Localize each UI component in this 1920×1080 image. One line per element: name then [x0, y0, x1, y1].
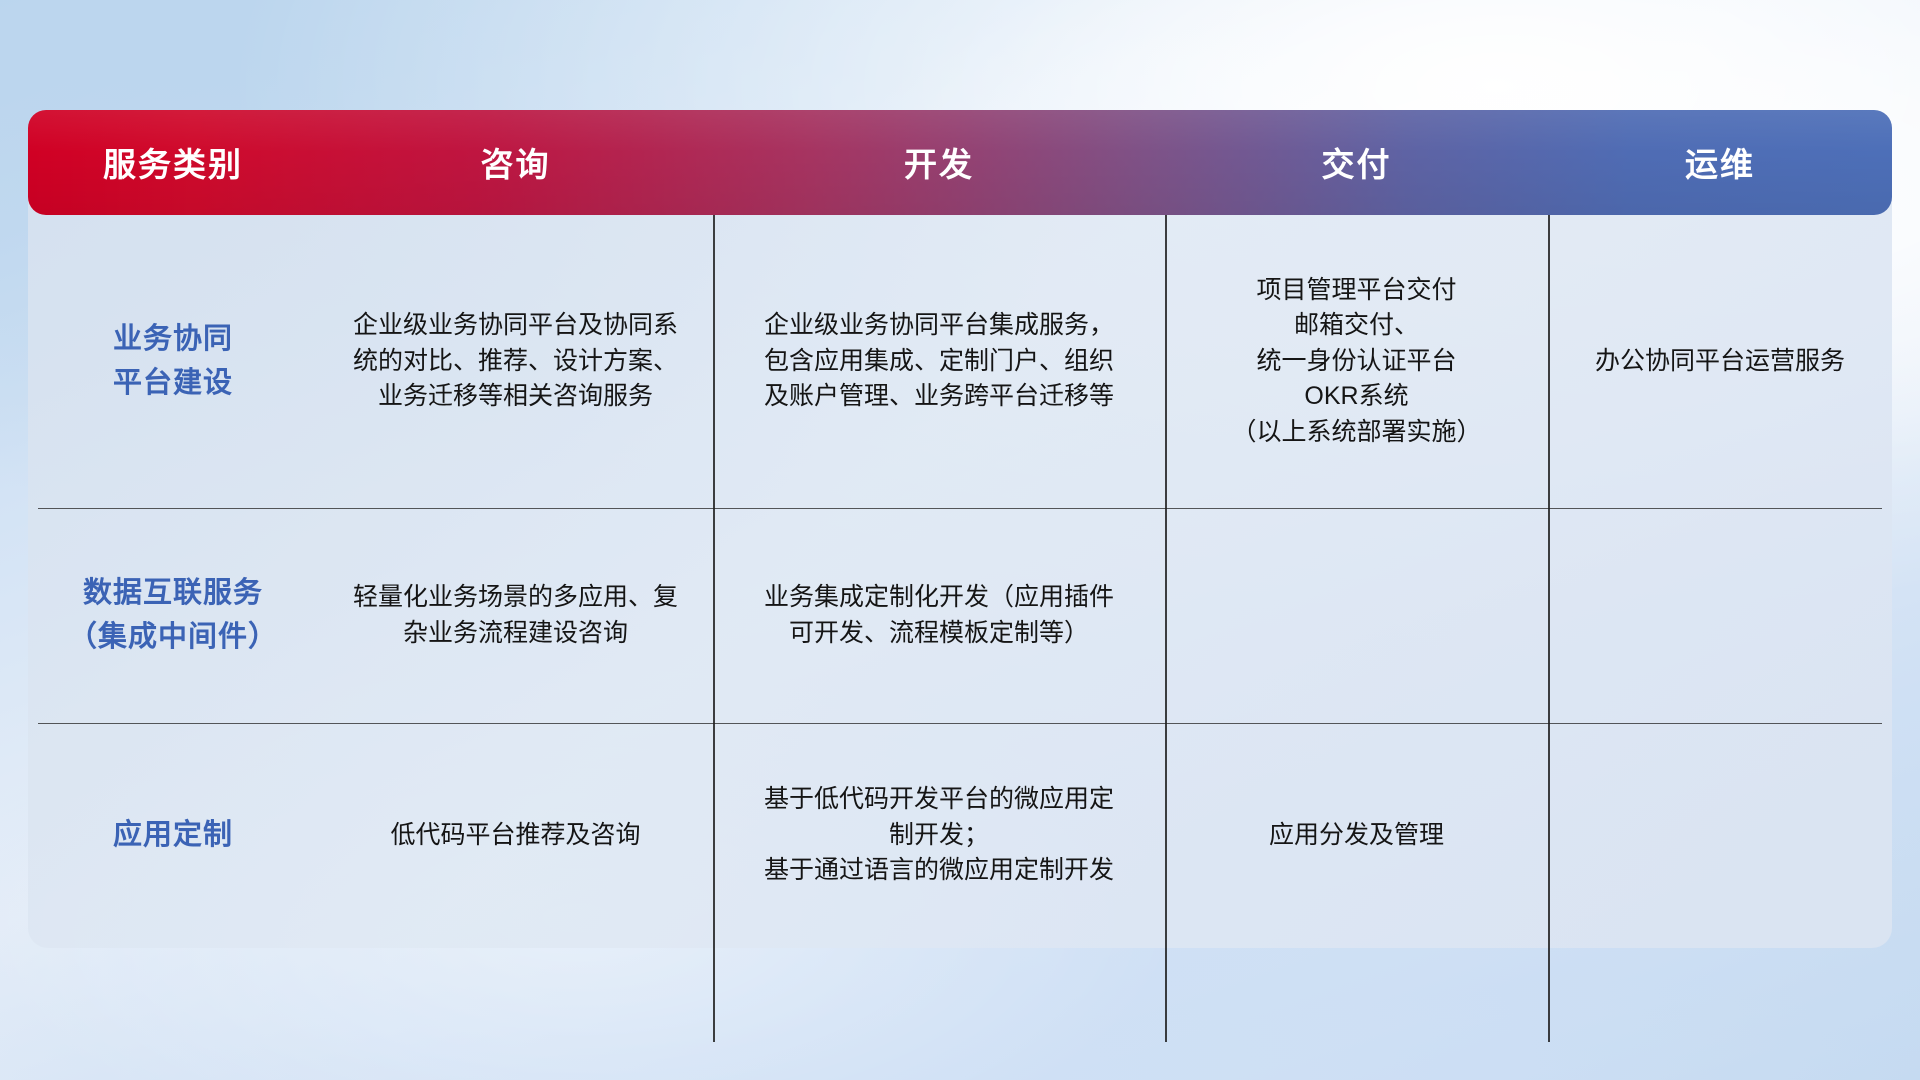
cell-consulting-1: 企业级业务协同平台及协同系 统的对比、推荐、设计方案、 业务迁移等相关咨询服务 — [318, 215, 713, 508]
table-row: 数据互联服务 （集成中间件） 轻量化业务场景的多应用、复 杂业务流程建设咨询 业… — [28, 508, 1892, 723]
column-header-consulting: 咨询 — [318, 144, 713, 181]
table-row: 业务协同 平台建设 企业级业务协同平台及协同系 统的对比、推荐、设计方案、 业务… — [28, 215, 1892, 508]
column-divider-3 — [1548, 215, 1550, 1042]
cell-development-3: 基于低代码开发平台的微应用定 制开发； 基于通过语言的微应用定制开发 — [713, 723, 1165, 948]
column-header-category: 服务类别 — [28, 144, 318, 181]
cell-consulting-3: 低代码平台推荐及咨询 — [318, 723, 713, 948]
table-header-row: 服务类别 咨询 开发 交付 运维 — [28, 110, 1892, 215]
column-header-development: 开发 — [713, 144, 1165, 181]
table-row: 应用定制 低代码平台推荐及咨询 基于低代码开发平台的微应用定 制开发； 基于通过… — [28, 723, 1892, 948]
cell-category-2: 数据互联服务 （集成中间件） — [28, 508, 318, 723]
table-body: 业务协同 平台建设 企业级业务协同平台及协同系 统的对比、推荐、设计方案、 业务… — [28, 215, 1892, 948]
cell-category-3: 应用定制 — [28, 723, 318, 948]
cell-delivery-3: 应用分发及管理 — [1165, 723, 1548, 948]
cell-development-2: 业务集成定制化开发（应用插件 可开发、流程模板定制等） — [713, 508, 1165, 723]
cell-category-1: 业务协同 平台建设 — [28, 215, 318, 508]
column-header-operations: 运维 — [1548, 144, 1892, 181]
cell-delivery-1: 项目管理平台交付 邮箱交付、 统一身份认证平台 OKR系统 （以上系统部署实施） — [1165, 215, 1548, 508]
cell-consulting-2: 轻量化业务场景的多应用、复 杂业务流程建设咨询 — [318, 508, 713, 723]
cell-development-1: 企业级业务协同平台集成服务， 包含应用集成、定制门户、组织 及账户管理、业务跨平… — [713, 215, 1165, 508]
cell-operations-3 — [1548, 723, 1892, 948]
cell-delivery-2 — [1165, 508, 1548, 723]
cell-operations-1: 办公协同平台运营服务 — [1548, 215, 1892, 508]
service-category-table: 服务类别 咨询 开发 交付 运维 业务协同 平台建设 企业级业务协同平台及协同系… — [28, 110, 1892, 950]
column-divider-1 — [713, 215, 715, 1042]
cell-operations-2 — [1548, 508, 1892, 723]
column-divider-2 — [1165, 215, 1167, 1042]
column-header-delivery: 交付 — [1165, 144, 1548, 181]
